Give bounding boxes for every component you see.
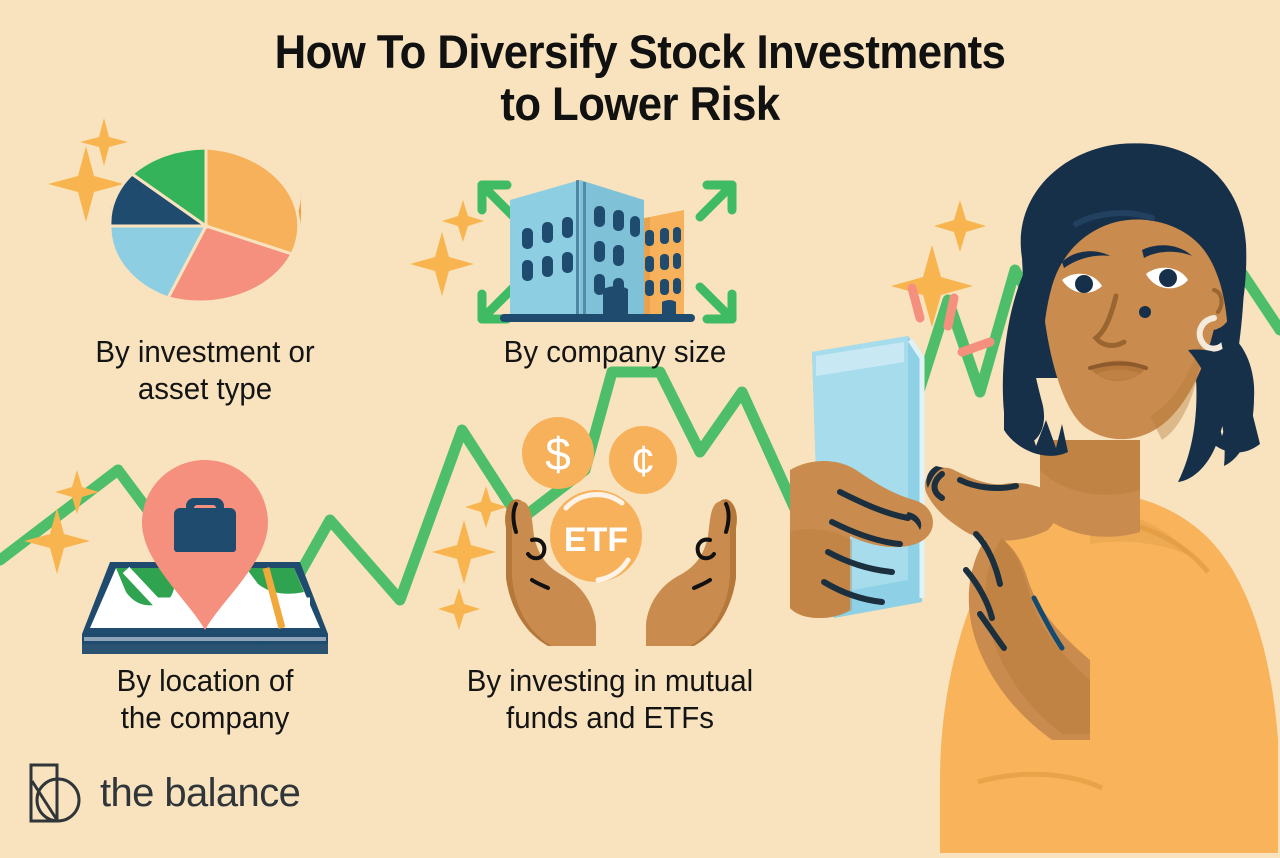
dollar-coin-icon: $ xyxy=(522,417,594,489)
infographic-canvas: How To Diversify Stock Investments to Lo… xyxy=(0,0,1280,853)
caption-line-1: By investment or xyxy=(29,333,381,370)
caption-line-2: asset type xyxy=(29,370,381,407)
caption-mutual-funds: By investing in mutual funds and ETFs xyxy=(401,662,819,736)
arrow-up-left-icon xyxy=(482,185,514,217)
arrow-down-right-icon xyxy=(700,287,732,319)
page-title: How To Diversify Stock Investments to Lo… xyxy=(0,26,1280,130)
caption-company-size: By company size xyxy=(420,333,810,370)
caption-line-1: By investing in mutual xyxy=(401,662,819,699)
phone-action-lines xyxy=(912,288,990,352)
sparkle-icon xyxy=(438,588,480,630)
pie-chart-icon xyxy=(96,148,306,323)
caption-line-1: By company size xyxy=(420,333,810,370)
map-pin-briefcase-icon xyxy=(70,452,340,667)
woman-with-phone-illustration xyxy=(790,140,1280,858)
hands-holding-etf-coin-icon: $ ¢ ETF xyxy=(486,408,756,653)
cent-coin-label: ¢ xyxy=(631,437,655,486)
etf-coin-label: ETF xyxy=(564,521,628,559)
caption-line-1: By location of xyxy=(39,662,372,699)
title-line-2: to Lower Risk xyxy=(45,78,1235,130)
logo-text: the balance xyxy=(100,771,300,816)
arrow-up-right-icon xyxy=(700,185,732,217)
etf-coin-icon: ETF xyxy=(550,490,642,582)
buildings-icon xyxy=(462,162,752,347)
caption-line-2: the company xyxy=(39,699,372,736)
caption-line-2: funds and ETFs xyxy=(401,699,819,736)
cent-coin-icon: ¢ xyxy=(609,426,677,494)
title-line-1: How To Diversify Stock Investments xyxy=(45,26,1235,78)
the-balance-logo: the balance xyxy=(28,762,300,824)
balance-logo-mark-icon xyxy=(28,762,86,824)
right-hand-icon xyxy=(646,499,737,646)
caption-asset-type: By investment or asset type xyxy=(29,333,381,407)
caption-location: By location of the company xyxy=(39,662,372,736)
dollar-coin-label: $ xyxy=(545,428,571,480)
